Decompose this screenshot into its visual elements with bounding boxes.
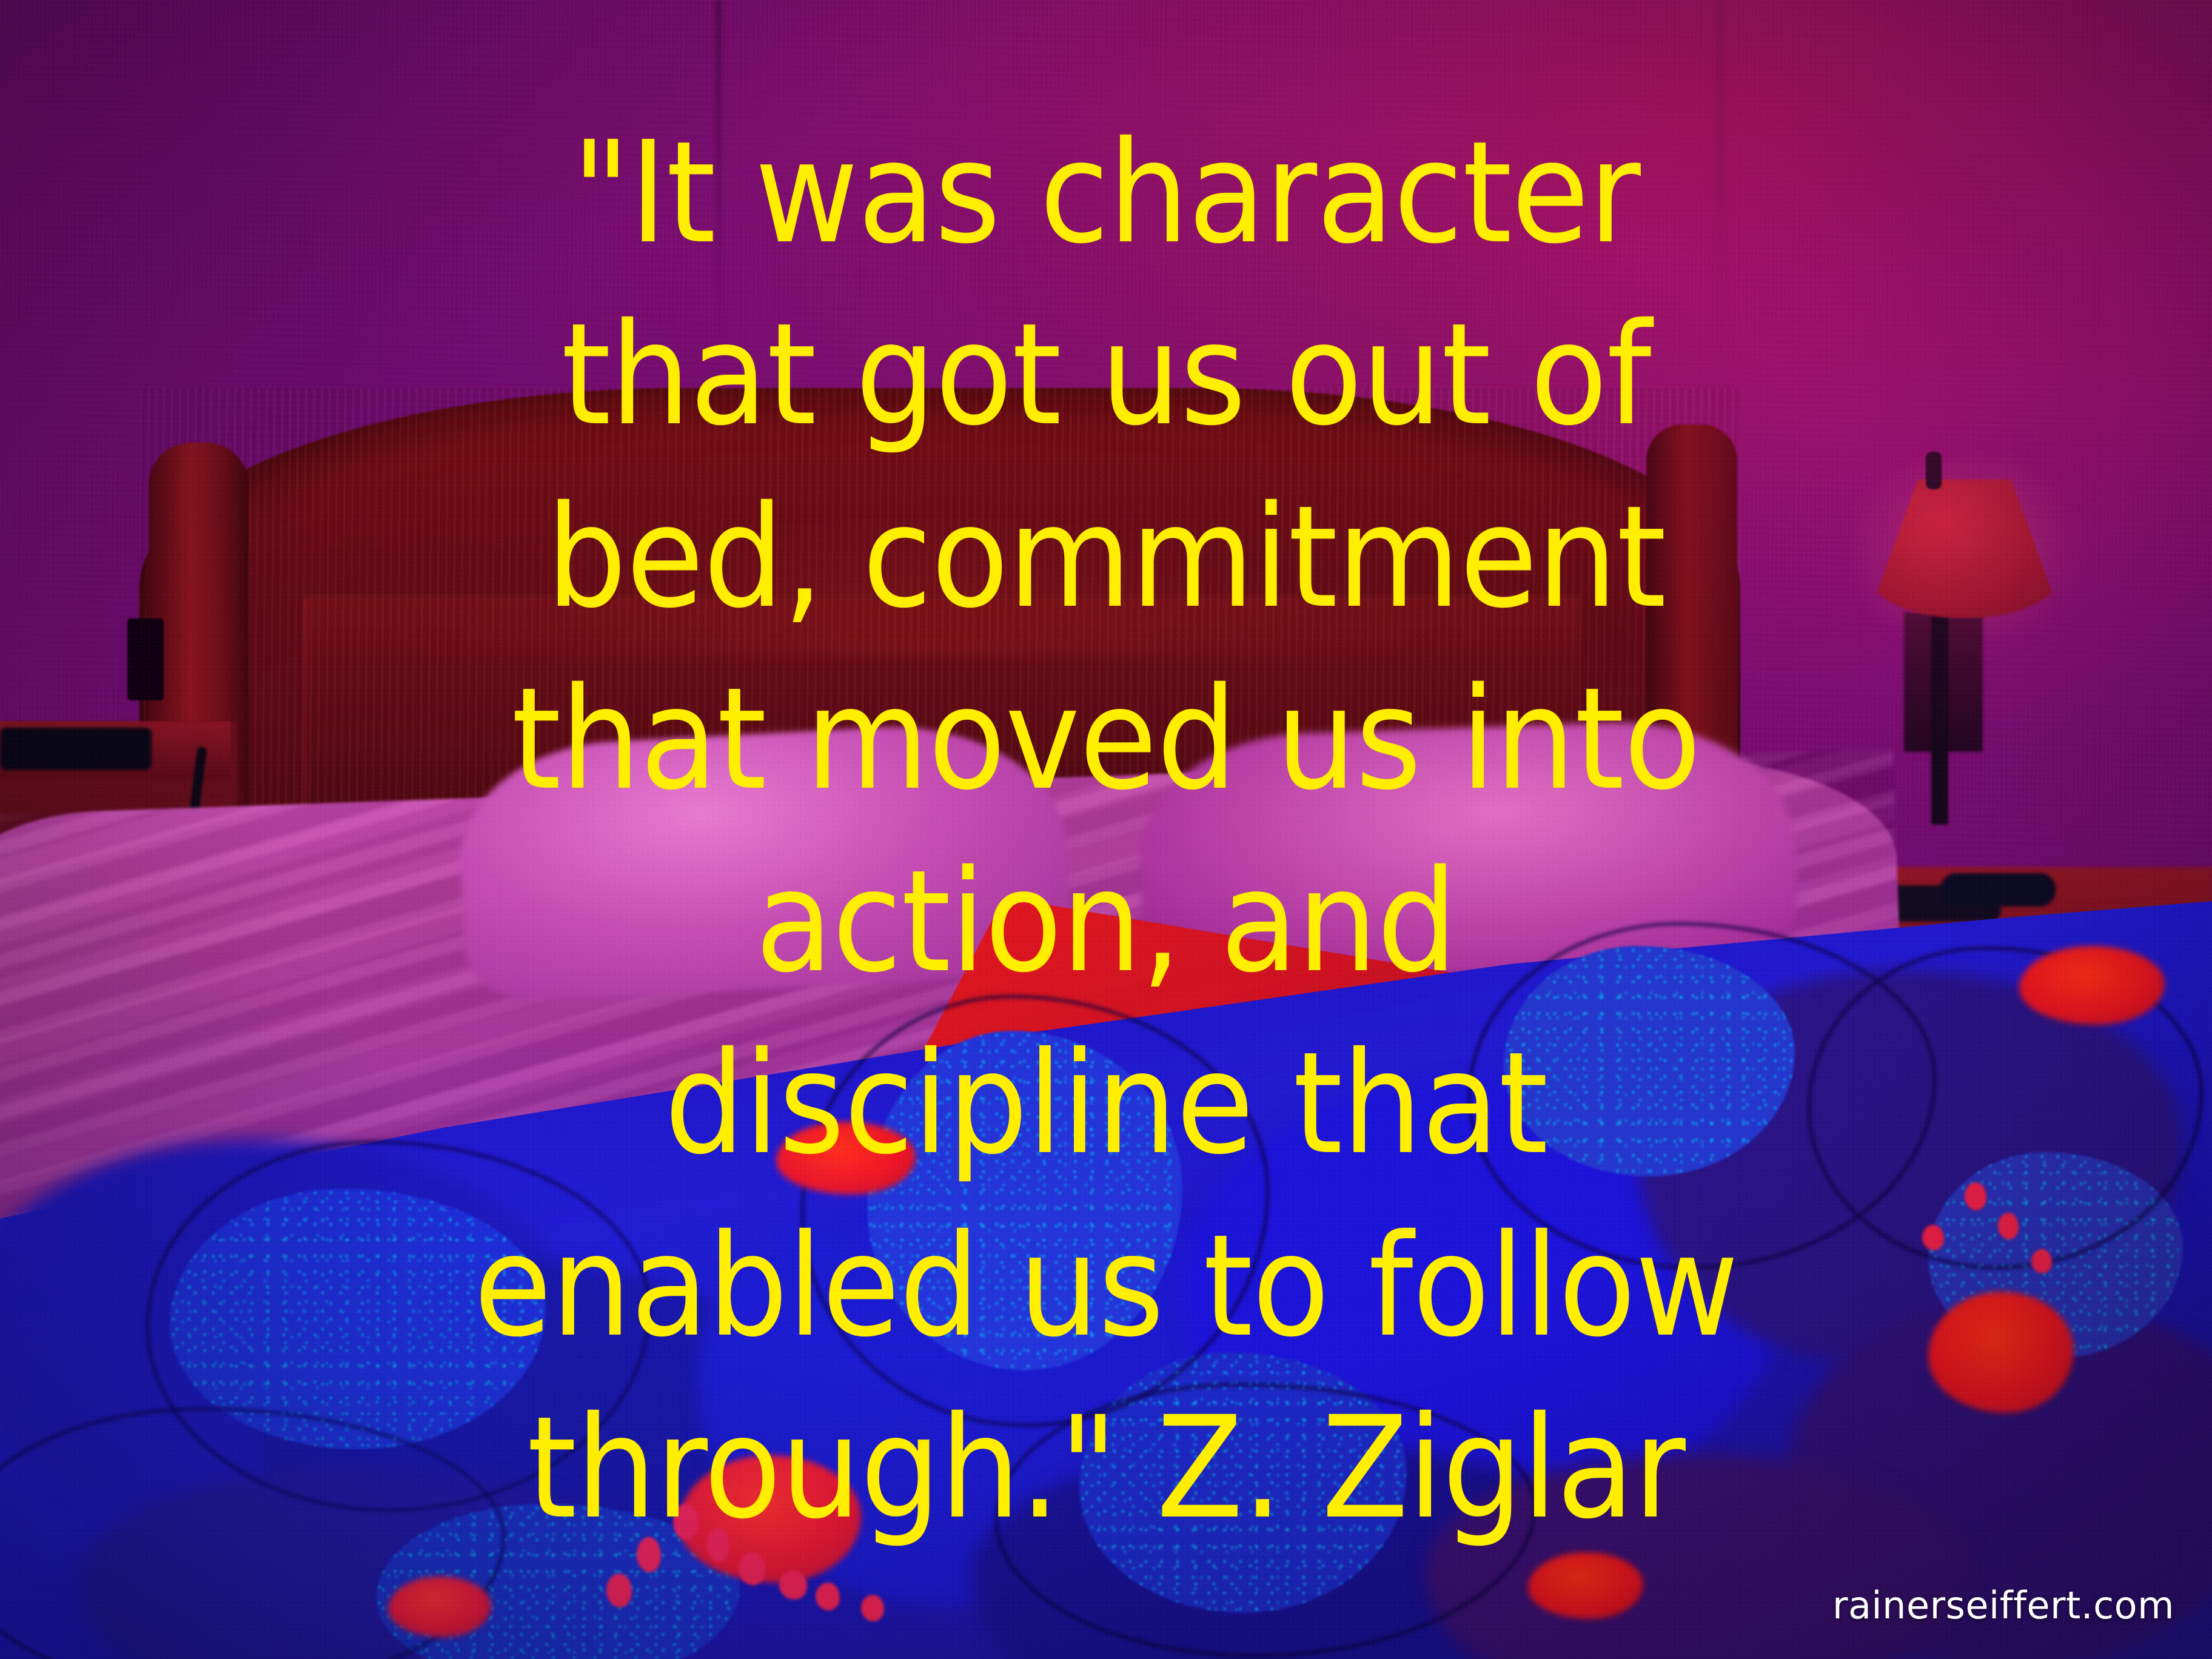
- quilt-red-flower: [1528, 1552, 1643, 1619]
- table-lamp-stem: [1931, 612, 1948, 825]
- quilt-red-dot: [1998, 1213, 2019, 1239]
- quilt-red-flower: [776, 1122, 916, 1195]
- quilt-red-dot: [673, 1504, 699, 1540]
- quilt-red-dot: [861, 1595, 884, 1621]
- quilt-red-dot: [2031, 1249, 2052, 1273]
- quilt-red-flower: [1928, 1292, 2074, 1413]
- quilt-red-flower: [388, 1577, 491, 1637]
- quilt-red-dot: [637, 1537, 661, 1572]
- quilt-red-dot: [1922, 1225, 1944, 1250]
- table-lamp-finial: [1926, 452, 1942, 489]
- wall-outlet: [127, 618, 164, 700]
- quilt-red-dot: [739, 1552, 765, 1585]
- quilt-red-dot: [816, 1583, 840, 1610]
- quilt-red-dot: [706, 1528, 729, 1562]
- nightstand-left-object: [0, 728, 152, 770]
- quilt-red-flower: [2019, 946, 2165, 1025]
- wall-seam-right: [1716, 0, 1724, 424]
- quilt-red-dot: [1965, 1182, 1986, 1210]
- background-photograph: [0, 0, 2212, 1659]
- eyeglasses: [1940, 873, 2056, 907]
- quilt-red-dot: [779, 1570, 807, 1600]
- quote-image-canvas: "It was character that got us out of bed…: [0, 0, 2212, 1659]
- wall-seam-left: [716, 0, 722, 340]
- quilt-red-dot: [606, 1574, 632, 1607]
- site-watermark: rainerseiffert.com: [1832, 1583, 2174, 1627]
- quilt-red-flower: [679, 1455, 861, 1583]
